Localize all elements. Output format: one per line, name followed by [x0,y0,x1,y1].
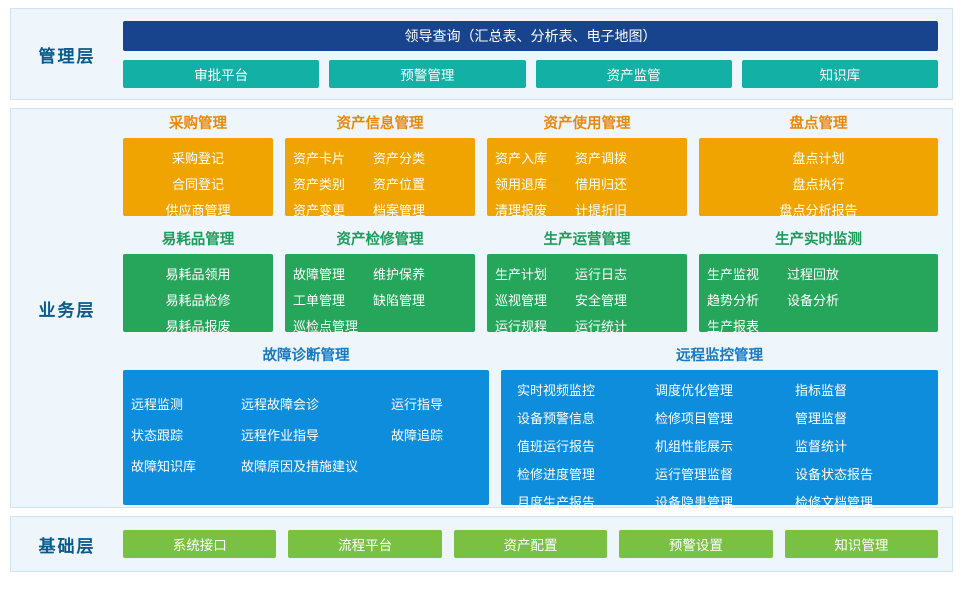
item-asset-inbound[interactable]: 资产入库 [495,148,565,167]
group-fault-diagnosis-title: 故障诊断管理 [123,344,489,365]
business-row-2: 易耗品管理 易耗品领用 易耗品检修 易耗品报废 资产检修管理 故障管理维护保养 [123,228,938,332]
item-maintenance-document-management[interactable]: 检修文档管理 [795,492,915,511]
management-module-approval[interactable]: 审批平台 [123,60,319,88]
group-consumables-box: 易耗品领用 易耗品检修 易耗品报废 [123,254,273,332]
group-consumables-title: 易耗品管理 [123,228,273,249]
base-layer-body: 系统接口 流程平台 资产配置 预警设置 知识管理 [123,530,952,558]
item-patrol-management[interactable]: 巡视管理 [495,290,565,309]
group-procurement-box: 采购登记 合同登记 供应商管理 [123,138,273,216]
base-module-knowledge-management[interactable]: 知识管理 [785,530,938,558]
management-layer-band: 管理层 领导查询（汇总表、分析表、电子地图） 审批平台 预警管理 资产监管 知识… [10,8,953,100]
item-operation-log[interactable]: 运行日志 [575,264,627,283]
base-module-asset-configuration[interactable]: 资产配置 [454,530,607,558]
business-row-3: 故障诊断管理 远程监测 远程故障会诊 运行指导 状态跟踪 远程作业指导 [123,344,938,505]
item-production-plan[interactable]: 生产计划 [495,264,565,283]
group-inventory: 盘点管理 盘点计划 盘点执行 盘点分析报告 [699,112,938,216]
item-inventory-plan[interactable]: 盘点计划 [792,148,844,167]
group-fault-diagnosis-box: 远程监测 远程故障会诊 运行指导 状态跟踪 远程作业指导 故障追踪 故障知识库 [123,370,489,505]
item-maintenance-project-management[interactable]: 检修项目管理 [655,408,795,427]
item-maintenance-progress-management[interactable]: 检修进度管理 [517,464,655,483]
item-operation-statistics[interactable]: 运行统计 [575,316,627,335]
group-fault-diagnosis: 故障诊断管理 远程监测 远程故障会诊 运行指导 状态跟踪 远程作业指导 [123,344,489,505]
item-fault-knowledge-base[interactable]: 故障知识库 [131,456,241,475]
group-realtime-monitoring: 生产实时监测 生产监视过程回放 趋势分析设备分析 生产报表 [699,228,938,332]
group-production-operation-box: 生产计划运行日志 巡视管理安全管理 运行规程运行统计 [487,254,687,332]
item-management-supervision[interactable]: 管理监督 [795,408,915,427]
group-asset-usage-box: 资产入库资产调拨 领用退库借用归还 清理报废计提折旧 [487,138,687,216]
item-unit-performance-display[interactable]: 机组性能展示 [655,436,795,455]
group-production-operation: 生产运营管理 生产计划运行日志 巡视管理安全管理 运行规程运行统计 [487,228,687,332]
business-layer-label: 业务层 [11,296,123,321]
item-remote-monitoring[interactable]: 远程监测 [131,394,241,413]
base-layer-band: 基础层 系统接口 流程平台 资产配置 预警设置 知识管理 [10,516,953,572]
item-indicator-supervision[interactable]: 指标监督 [795,380,915,399]
item-fault-management[interactable]: 故障管理 [293,264,363,283]
item-requisition-return[interactable]: 领用退库 [495,174,565,193]
group-asset-maintenance-title: 资产检修管理 [285,228,475,249]
item-asset-location[interactable]: 资产位置 [373,174,425,193]
item-equipment-status-report[interactable]: 设备状态报告 [795,464,915,483]
item-asset-change[interactable]: 资产变更 [293,200,363,219]
item-work-order-management[interactable]: 工单管理 [293,290,363,309]
management-layer-body: 领导查询（汇总表、分析表、电子地图） 审批平台 预警管理 资产监管 知识库 [123,21,952,88]
group-remote-monitoring-box: 实时视频监控 调度优化管理 指标监督 设备预警信息 检修项目管理 管理监督 值班… [501,370,938,505]
group-production-operation-title: 生产运营管理 [487,228,687,249]
business-row-1: 采购管理 采购登记 合同登记 供应商管理 资产信息管理 资产卡片资产分类 [123,112,938,216]
group-realtime-monitoring-box: 生产监视过程回放 趋势分析设备分析 生产报表 [699,254,938,332]
management-modules-row: 审批平台 预警管理 资产监管 知识库 [123,60,938,88]
group-procurement: 采购管理 采购登记 合同登记 供应商管理 [123,112,273,216]
group-asset-usage-title: 资产使用管理 [487,112,687,133]
item-fault-cause-suggestion[interactable]: 故障原因及措施建议 [241,456,358,475]
group-inventory-box: 盘点计划 盘点执行 盘点分析报告 [699,138,938,216]
item-equipment-analysis[interactable]: 设备分析 [787,290,839,309]
base-module-alarm-settings[interactable]: 预警设置 [619,530,772,558]
group-asset-info-box: 资产卡片资产分类 资产类别资产位置 资产变更档案管理 [285,138,475,216]
item-asset-transfer[interactable]: 资产调拨 [575,148,627,167]
item-asset-card[interactable]: 资产卡片 [293,148,363,167]
item-realtime-video-monitoring[interactable]: 实时视频监控 [517,380,655,399]
management-module-asset-supervision[interactable]: 资产监管 [536,60,732,88]
group-remote-monitoring-title: 远程监控管理 [501,344,938,365]
item-operation-management-supervision[interactable]: 运行管理监督 [655,464,795,483]
item-trend-analysis[interactable]: 趋势分析 [707,290,777,309]
item-inspection-point-management[interactable]: 巡检点管理 [293,316,363,335]
item-production-report[interactable]: 生产报表 [707,316,777,335]
item-operation-guidance[interactable]: 运行指导 [391,394,481,413]
item-borrow-return[interactable]: 借用归还 [575,174,627,193]
base-layer-label: 基础层 [11,532,123,557]
group-realtime-monitoring-title: 生产实时监测 [699,228,938,249]
item-dispatch-optimization[interactable]: 调度优化管理 [655,380,795,399]
base-module-system-interface[interactable]: 系统接口 [123,530,276,558]
item-safety-management[interactable]: 安全管理 [575,290,627,309]
item-status-tracking[interactable]: 状态跟踪 [131,425,241,444]
item-procurement-register[interactable]: 采购登记 [172,148,224,167]
item-consumable-scrap[interactable]: 易耗品报废 [165,316,230,335]
item-inventory-analysis-report[interactable]: 盘点分析报告 [779,200,857,219]
item-archive-management[interactable]: 档案管理 [373,200,425,219]
item-inventory-execution[interactable]: 盘点执行 [792,174,844,193]
item-consumable-requisition[interactable]: 易耗品领用 [165,264,230,283]
item-monthly-production-report[interactable]: 月度生产报告 [517,492,655,511]
business-layer-body: 采购管理 采购登记 合同登记 供应商管理 资产信息管理 资产卡片资产分类 [123,112,952,505]
group-procurement-title: 采购管理 [123,112,273,133]
base-modules-row: 系统接口 流程平台 资产配置 预警设置 知识管理 [123,530,938,558]
group-asset-info-title: 资产信息管理 [285,112,475,133]
group-asset-maintenance: 资产检修管理 故障管理维护保养 工单管理缺陷管理 巡检点管理 [285,228,475,332]
item-production-monitoring[interactable]: 生产监视 [707,264,777,283]
group-remote-monitoring: 远程监控管理 实时视频监控 调度优化管理 指标监督 设备预警信息 检修项目管理 [501,344,938,505]
item-remote-fault-consultation[interactable]: 远程故障会诊 [241,394,391,413]
group-asset-info: 资产信息管理 资产卡片资产分类 资产类别资产位置 资产变更档案管理 [285,112,475,216]
base-module-process-platform[interactable]: 流程平台 [288,530,441,558]
item-consumable-repair[interactable]: 易耗品检修 [165,290,230,309]
management-module-alarm[interactable]: 预警管理 [329,60,525,88]
item-duty-operation-report[interactable]: 值班运行报告 [517,436,655,455]
item-defect-management[interactable]: 缺陷管理 [373,290,425,309]
group-inventory-title: 盘点管理 [699,112,938,133]
item-operation-procedure[interactable]: 运行规程 [495,316,565,335]
item-fault-tracking[interactable]: 故障追踪 [391,425,481,444]
group-consumables: 易耗品管理 易耗品领用 易耗品检修 易耗品报废 [123,228,273,332]
item-contract-register[interactable]: 合同登记 [172,174,224,193]
item-asset-classification[interactable]: 资产分类 [373,148,425,167]
item-depreciation[interactable]: 计提折旧 [575,200,627,219]
architecture-diagram: 管理层 领导查询（汇总表、分析表、电子地图） 审批平台 预警管理 资产监管 知识… [0,0,963,597]
business-layer-band: 业务层 采购管理 采购登记 合同登记 供应商管理 资产信息管理 [10,108,953,508]
group-asset-usage: 资产使用管理 资产入库资产调拨 领用退库借用归还 清理报废计提折旧 [487,112,687,216]
management-layer-label: 管理层 [11,42,123,67]
item-maintenance-upkeep[interactable]: 维护保养 [373,264,425,283]
item-remote-work-guidance[interactable]: 远程作业指导 [241,425,391,444]
group-asset-maintenance-box: 故障管理维护保养 工单管理缺陷管理 巡检点管理 [285,254,475,332]
leader-query-banner[interactable]: 领导查询（汇总表、分析表、电子地图） [123,21,938,51]
item-cleanup-scrap[interactable]: 清理报废 [495,200,565,219]
item-equipment-hidden-danger-management[interactable]: 设备隐患管理 [655,492,795,511]
item-equipment-alarm-info[interactable]: 设备预警信息 [517,408,655,427]
management-module-knowledge-base[interactable]: 知识库 [742,60,938,88]
item-process-playback[interactable]: 过程回放 [787,264,839,283]
item-supervision-statistics[interactable]: 监督统计 [795,436,915,455]
item-supplier-management[interactable]: 供应商管理 [165,200,230,219]
item-asset-category[interactable]: 资产类别 [293,174,363,193]
